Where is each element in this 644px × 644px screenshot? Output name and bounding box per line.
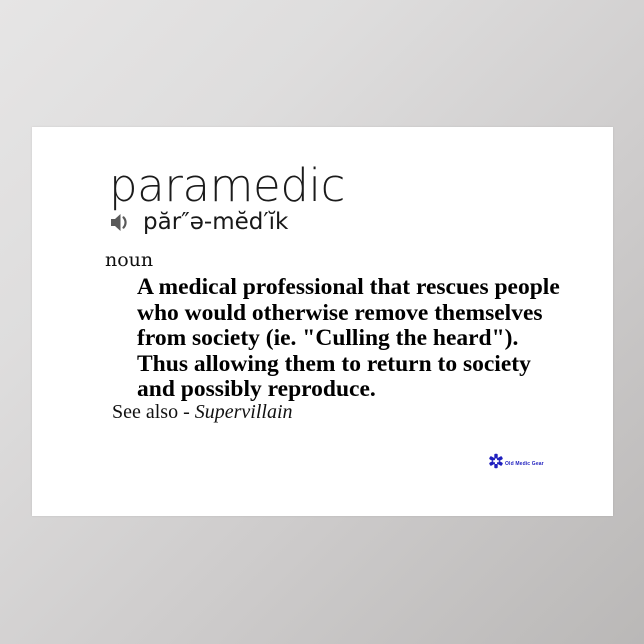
definition-line: A medical professional that rescues peop… <box>137 275 567 301</box>
definition-line: Thus allowing them to return to society <box>137 352 567 378</box>
star-of-life-icon <box>488 453 504 469</box>
part-of-speech: noun <box>105 251 153 270</box>
see-also-reference[interactable]: Supervillain <box>195 401 293 423</box>
brand-logo[interactable]: Old Medic Gear <box>488 453 544 469</box>
see-also-label: See also - <box>112 401 190 423</box>
brand-name: Old Medic Gear <box>505 461 544 467</box>
definition-line: who would otherwise remove themselves <box>137 301 567 327</box>
definition-line: and possibly reproduce. <box>137 377 567 403</box>
speaker-icon[interactable] <box>109 212 134 233</box>
poster-sheet: paramedic păr″ə-mĕd′ĭk noun A medical pr… <box>32 127 613 516</box>
poster-canvas: paramedic păr″ə-mĕd′ĭk noun A medical pr… <box>0 0 644 644</box>
see-also-line: See also - Supervillain <box>112 402 293 422</box>
pronunciation-text: păr″ə-mĕd′ĭk <box>143 211 288 234</box>
page-title: paramedic <box>109 163 345 208</box>
pronunciation-row: păr″ə-mĕd′ĭk <box>109 211 288 234</box>
definition-block: A medical professional that rescues peop… <box>137 275 567 403</box>
definition-line: from society (ie. "Culling the heard"). <box>137 326 567 352</box>
